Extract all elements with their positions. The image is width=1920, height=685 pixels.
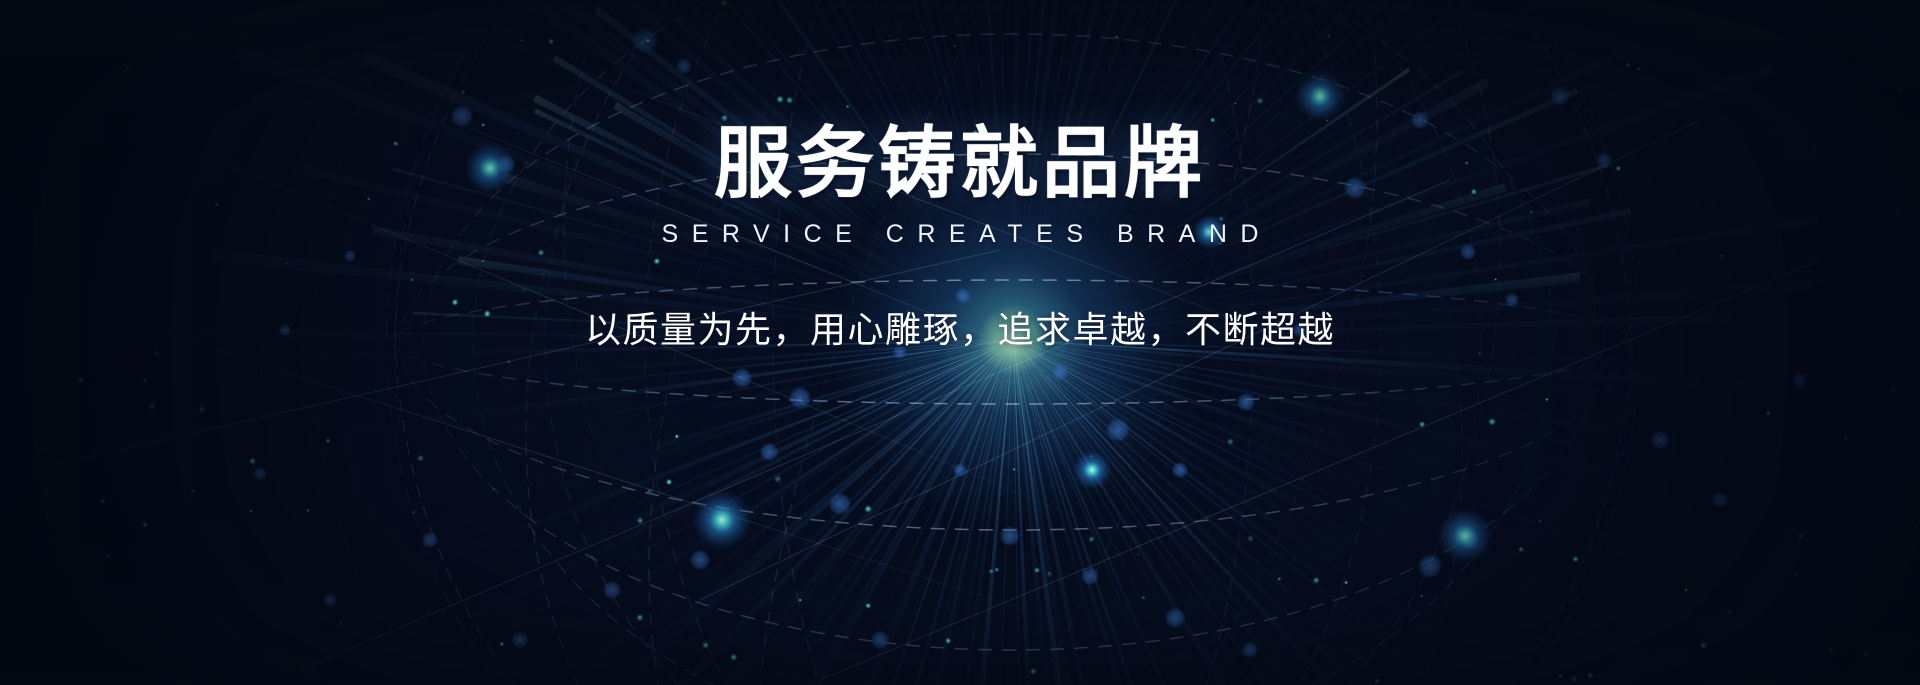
banner-title: 服务铸就品牌 <box>714 124 1206 204</box>
hero-banner: 服务铸就品牌 SERVICE CREATES BRAND 以质量为先，用心雕琢，… <box>0 0 1920 685</box>
banner-text-block: 服务铸就品牌 SERVICE CREATES BRAND 以质量为先，用心雕琢，… <box>0 0 1920 685</box>
banner-tagline: 以质量为先，用心雕琢，追求卓越，不断超越 <box>585 301 1335 353</box>
banner-subtitle-english: SERVICE CREATES BRAND <box>648 220 1272 249</box>
